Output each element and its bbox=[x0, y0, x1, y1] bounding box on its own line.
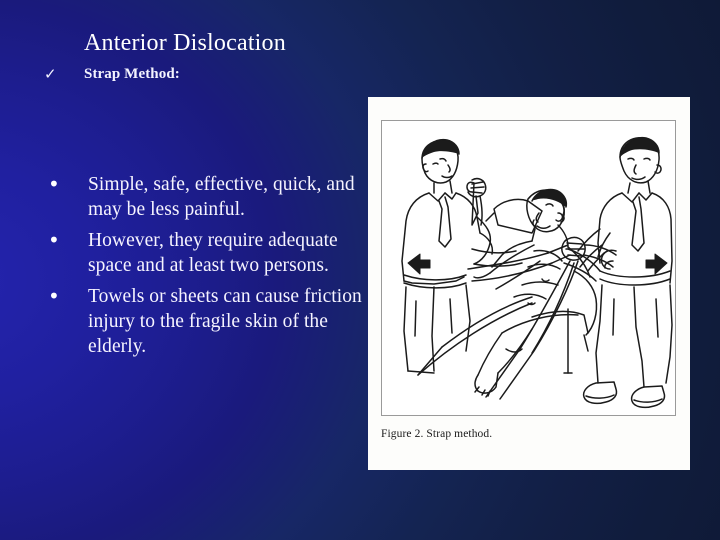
strap-method-illustration bbox=[382, 121, 675, 415]
bullet-marker-icon: • bbox=[44, 284, 88, 309]
figure-caption: Figure 2. Strap method. bbox=[381, 427, 492, 441]
bullet-list: • Simple, safe, effective, quick, and ma… bbox=[44, 172, 364, 365]
bullet-marker-icon: • bbox=[44, 172, 88, 197]
bullet-text: However, they require adequate space and… bbox=[88, 228, 364, 278]
list-item: • Towels or sheets can cause friction in… bbox=[44, 284, 364, 359]
subheading-label: Strap Method: bbox=[84, 64, 180, 85]
list-item: • Simple, safe, effective, quick, and ma… bbox=[44, 172, 364, 222]
presentation-slide: Anterior Dislocation ✓ Strap Method: • S… bbox=[0, 0, 720, 540]
subheading-row: ✓ Strap Method: bbox=[44, 64, 374, 85]
slide-title: Anterior Dislocation bbox=[84, 29, 286, 57]
figure-frame bbox=[381, 120, 676, 416]
checkmark-icon: ✓ bbox=[44, 64, 84, 85]
list-item: • However, they require adequate space a… bbox=[44, 228, 364, 278]
bullet-text: Towels or sheets can cause friction inju… bbox=[88, 284, 364, 359]
figure-panel: Figure 2. Strap method. bbox=[368, 97, 690, 470]
bullet-text: Simple, safe, effective, quick, and may … bbox=[88, 172, 364, 222]
bullet-marker-icon: • bbox=[44, 228, 88, 253]
